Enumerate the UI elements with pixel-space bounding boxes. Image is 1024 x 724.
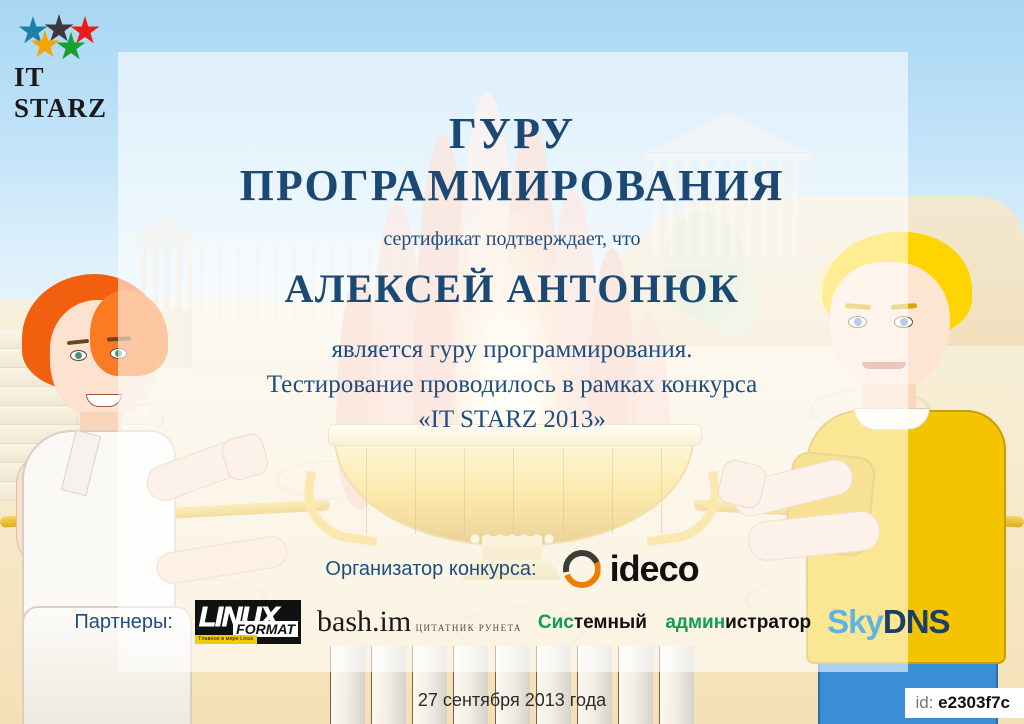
certificate-title-line2: ПРОГРАММИРОВАНИЯ: [0, 160, 1024, 211]
confirmation-text: сертификат подтверждает, что: [0, 228, 1024, 251]
body-line-2: Тестирование проводилось в рамках конкур…: [0, 371, 1024, 399]
partners-row: Партнеры: LINUX FORMAT Главное в мире Li…: [0, 600, 1024, 644]
organizer-label: Организатор конкурса:: [325, 558, 536, 581]
certificate-title-line1: ГУРУ: [0, 108, 1024, 159]
body-line-1: является гуру программирования.: [0, 336, 1024, 364]
ideco-wordmark: ideco: [610, 548, 699, 590]
id-value: e2303f7c: [938, 693, 1010, 712]
partner-logo-bash-im[interactable]: bash.im ЦИТАТНИК РУНЕТА: [317, 607, 522, 637]
recipient-name: АЛЕКСЕЙ АНТОНЮК: [0, 265, 1024, 312]
partners-label: Партнеры:: [74, 611, 173, 634]
body-line-3: «IT STARZ 2013»: [0, 406, 1024, 434]
skydns-part2: DNS: [883, 603, 950, 640]
issue-date: 27 сентября 2013 года: [0, 690, 1024, 711]
ideco-logo[interactable]: ideco: [563, 548, 699, 590]
sysadmin-row1: Системный: [538, 612, 647, 633]
sysadmin-row2-black: истратор: [725, 612, 811, 633]
stars-icon: [10, 14, 114, 58]
partner-logo-sysadmin[interactable]: Системный администратор: [538, 613, 811, 632]
partner-logo-linux-format[interactable]: LINUX FORMAT Главное в мире Linux: [195, 600, 301, 644]
ideco-swoosh-icon: [563, 550, 601, 588]
partner-logo-skydns[interactable]: SkyDNS: [827, 603, 949, 641]
it-starz-logo[interactable]: IT STARZ: [10, 14, 120, 94]
linux-format-tagline: Главное в мире Linux: [195, 635, 257, 644]
bash-im-word: bash.im: [317, 605, 411, 638]
id-label: id:: [915, 693, 933, 712]
sysadmin-row2: администратор: [665, 612, 811, 633]
certificate-canvas: IT STARZ ГУРУ ПРОГРАММИРОВАНИЯ сертифика…: [0, 0, 1024, 724]
sysadmin-row1-black: темный: [574, 612, 647, 633]
skydns-part1: Sky: [827, 603, 883, 640]
organizer-row: Организатор конкурса: ideco: [0, 548, 1024, 590]
bash-im-sub: ЦИТАТНИК РУНЕТА: [416, 623, 522, 633]
sysadmin-row1-green: Сис: [538, 612, 574, 633]
certificate-id-badge: id: e2303f7c: [905, 688, 1024, 718]
sysadmin-row2-green: админ: [665, 612, 725, 633]
